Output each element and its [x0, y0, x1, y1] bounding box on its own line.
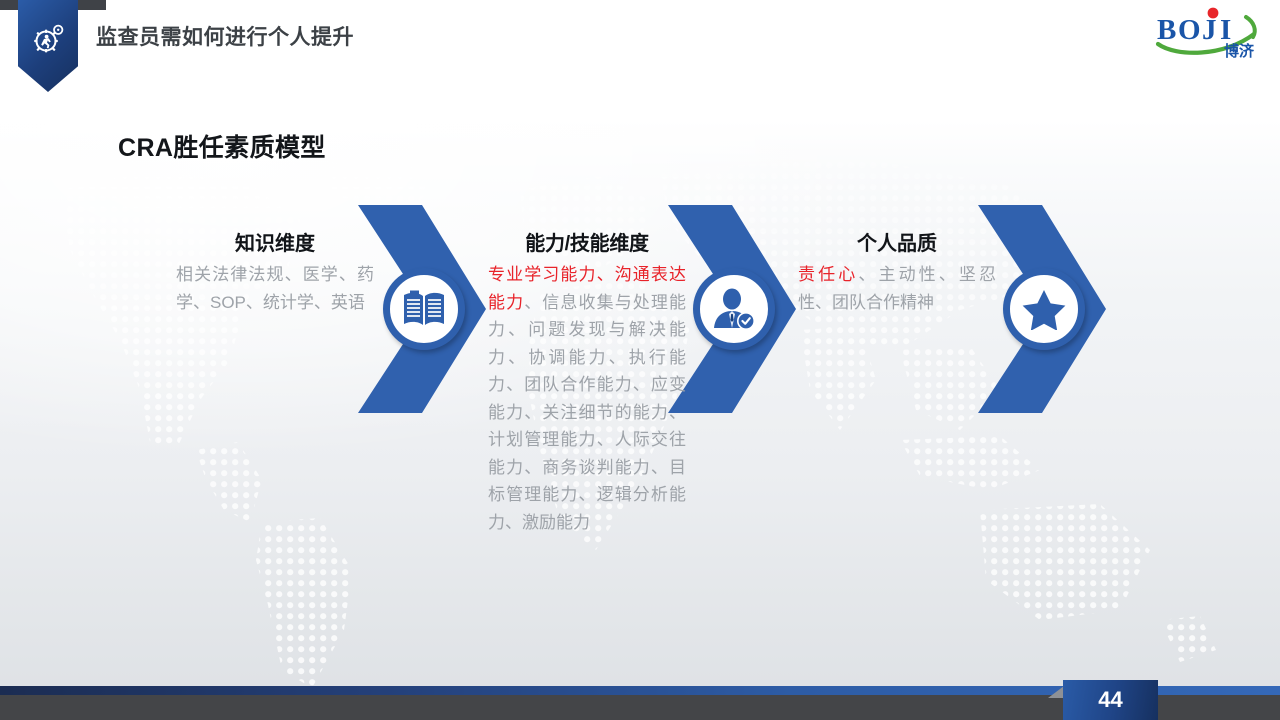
header-title: 监查员需如何进行个人提升 [96, 21, 354, 51]
svg-text:I: I [1220, 14, 1232, 46]
boji-logo: B O J I 博济 [1150, 4, 1268, 62]
column-heading: 能力/技能维度 [488, 232, 686, 257]
column-personal-quality: 个人品质 责任心、主动性、坚忍性、团队合作精神 [798, 232, 996, 316]
star-icon [1003, 268, 1085, 350]
column-knowledge: 知识维度 相关法律法规、医学、药学、SOP、统计学、英语 [176, 232, 374, 316]
column-body: 责任心、主动性、坚忍性、团队合作精神 [798, 261, 996, 316]
svg-text:J: J [1202, 14, 1218, 46]
svg-text:B: B [1157, 14, 1177, 46]
svg-text:O: O [1178, 14, 1202, 46]
column-body-text: 相关法律法规、医学、药学、SOP、统计学、英语 [176, 265, 374, 312]
page-number-badge: 44 [1063, 680, 1158, 720]
column-body-highlight: 责任心 [798, 265, 858, 284]
column-heading: 知识维度 [176, 232, 374, 257]
column-competency: 能力/技能维度 专业学习能力、沟通表达能力、信息收集与处理能力、问题发现与解决能… [488, 232, 686, 536]
open-book-icon [383, 268, 465, 350]
svg-text:博济: 博济 [1224, 42, 1255, 60]
running-person-gear-icon [18, 18, 78, 62]
page-title: CRA胜任素质模型 [118, 128, 326, 164]
verified-user-icon [693, 268, 775, 350]
column-body: 相关法律法规、医学、药学、SOP、统计学、英语 [176, 261, 374, 316]
column-body-text: 、信息收集与处理能力、问题发现与解决能力、协调能力、执行能力、团队合作能力、应变… [488, 293, 686, 532]
column-body: 专业学习能力、沟通表达能力、信息收集与处理能力、问题发现与解决能力、协调能力、执… [488, 261, 686, 536]
column-heading: 个人品质 [798, 232, 996, 257]
slide-root: 监查员需如何进行个人提升 B O J I 博济 CRA胜任素质模型 [0, 0, 1280, 720]
